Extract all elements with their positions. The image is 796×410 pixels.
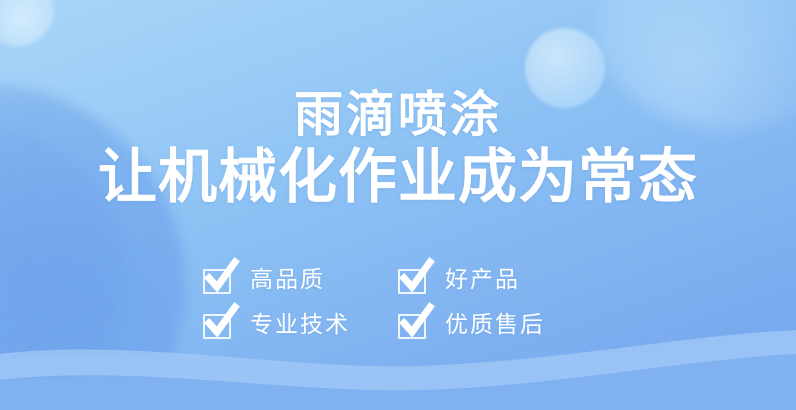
checkmark-icon — [399, 261, 433, 294]
feature-item-high-quality: 高品质 — [203, 257, 398, 302]
checkmark-icon — [204, 261, 238, 294]
feature-label: 高品质 — [250, 267, 325, 292]
checkbox-checked-icon — [203, 265, 233, 294]
checkbox-checked-icon — [398, 310, 428, 339]
page-title: 雨滴喷涂 让机械化作业成为常态 — [98, 88, 698, 209]
checkmark-icon — [399, 306, 433, 339]
feature-label: 专业技术 — [250, 312, 350, 337]
feature-item-good-product: 好产品 — [398, 257, 593, 302]
checkmark-icon — [204, 306, 238, 339]
promo-banner: 雨滴喷涂 让机械化作业成为常态 高品质 — [0, 0, 796, 410]
feature-label: 好产品 — [445, 267, 520, 292]
feature-item-professional-technology: 专业技术 — [203, 302, 398, 347]
checkbox-checked-icon — [398, 265, 428, 294]
checkbox-checked-icon — [203, 310, 233, 339]
headline-line-1: 雨滴喷涂 — [98, 88, 698, 142]
feature-label: 优质售后 — [445, 312, 545, 337]
feature-list: 高品质 好产品 专业技术 — [203, 257, 593, 347]
banner-content: 雨滴喷涂 让机械化作业成为常态 高品质 — [0, 0, 796, 410]
headline-line-2: 让机械化作业成为常态 — [98, 145, 698, 209]
feature-item-quality-after-sales: 优质售后 — [398, 302, 593, 347]
